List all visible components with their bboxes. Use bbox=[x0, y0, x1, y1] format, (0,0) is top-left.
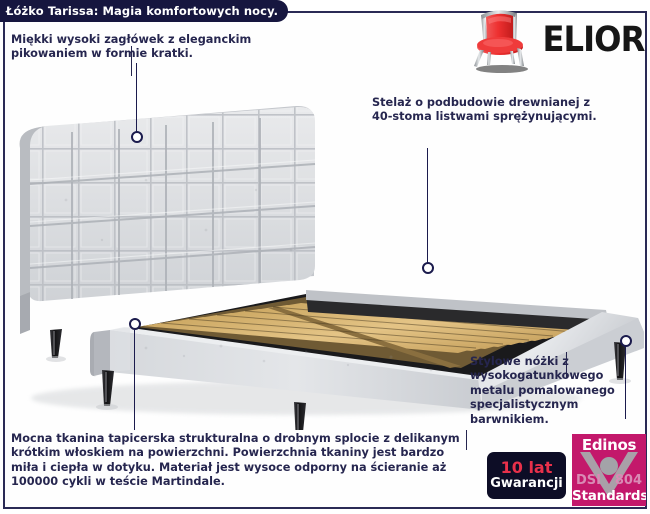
callout-text-headboard: Miękki wysoki zagłówek z eleganckim piko… bbox=[11, 33, 331, 62]
callout-text-legs: Stylowe nóżki z wysokogatunkowego metalu… bbox=[470, 355, 648, 427]
page-title: Łóżko Tarissa: Magia komfortowych nocy. bbox=[0, 0, 288, 22]
red-chair-icon bbox=[468, 5, 534, 75]
edinos-badge-number: 804 bbox=[615, 473, 642, 488]
warranty-badge-label: Gwarancji bbox=[490, 476, 563, 491]
callout-text-fabric: Mocna tkanina tapicerska strukturalna o … bbox=[11, 432, 463, 490]
brand-logo: ELIOR bbox=[468, 4, 644, 76]
warranty-badge-years: 10 lat bbox=[501, 460, 553, 476]
text-caret-headboard bbox=[131, 46, 132, 76]
edinos-standards-badge: Edinos DSI 804 Standards bbox=[572, 434, 646, 506]
text-caret-legs bbox=[566, 352, 567, 378]
edinos-badge-standards: Standards bbox=[572, 488, 646, 504]
leader-line-headboard bbox=[136, 63, 137, 137]
callout-text-frame: Stelaż o podbudowie drewnianej z 40-stom… bbox=[372, 96, 612, 125]
warranty-badge: 10 lat Gwarancji bbox=[487, 452, 566, 499]
callout-dot-frame[interactable] bbox=[422, 262, 434, 274]
callout-dot-fabric[interactable] bbox=[129, 318, 141, 330]
page-title-text: Łóżko Tarissa: Magia komfortowych nocy. bbox=[6, 4, 278, 18]
leader-line-frame bbox=[427, 148, 428, 268]
infographic-canvas: Łóżko Tarissa: Magia komfortowych nocy. bbox=[0, 0, 650, 514]
leader-line-fabric bbox=[134, 330, 135, 430]
text-caret-fabric bbox=[466, 430, 467, 450]
brand-wordmark: ELIOR bbox=[542, 23, 644, 58]
callout-dot-legs[interactable] bbox=[620, 335, 632, 347]
edinos-badge-dsi: DSI bbox=[576, 473, 601, 488]
edinos-badge-title: Edinos bbox=[572, 436, 646, 454]
callout-dot-headboard[interactable] bbox=[131, 131, 143, 143]
